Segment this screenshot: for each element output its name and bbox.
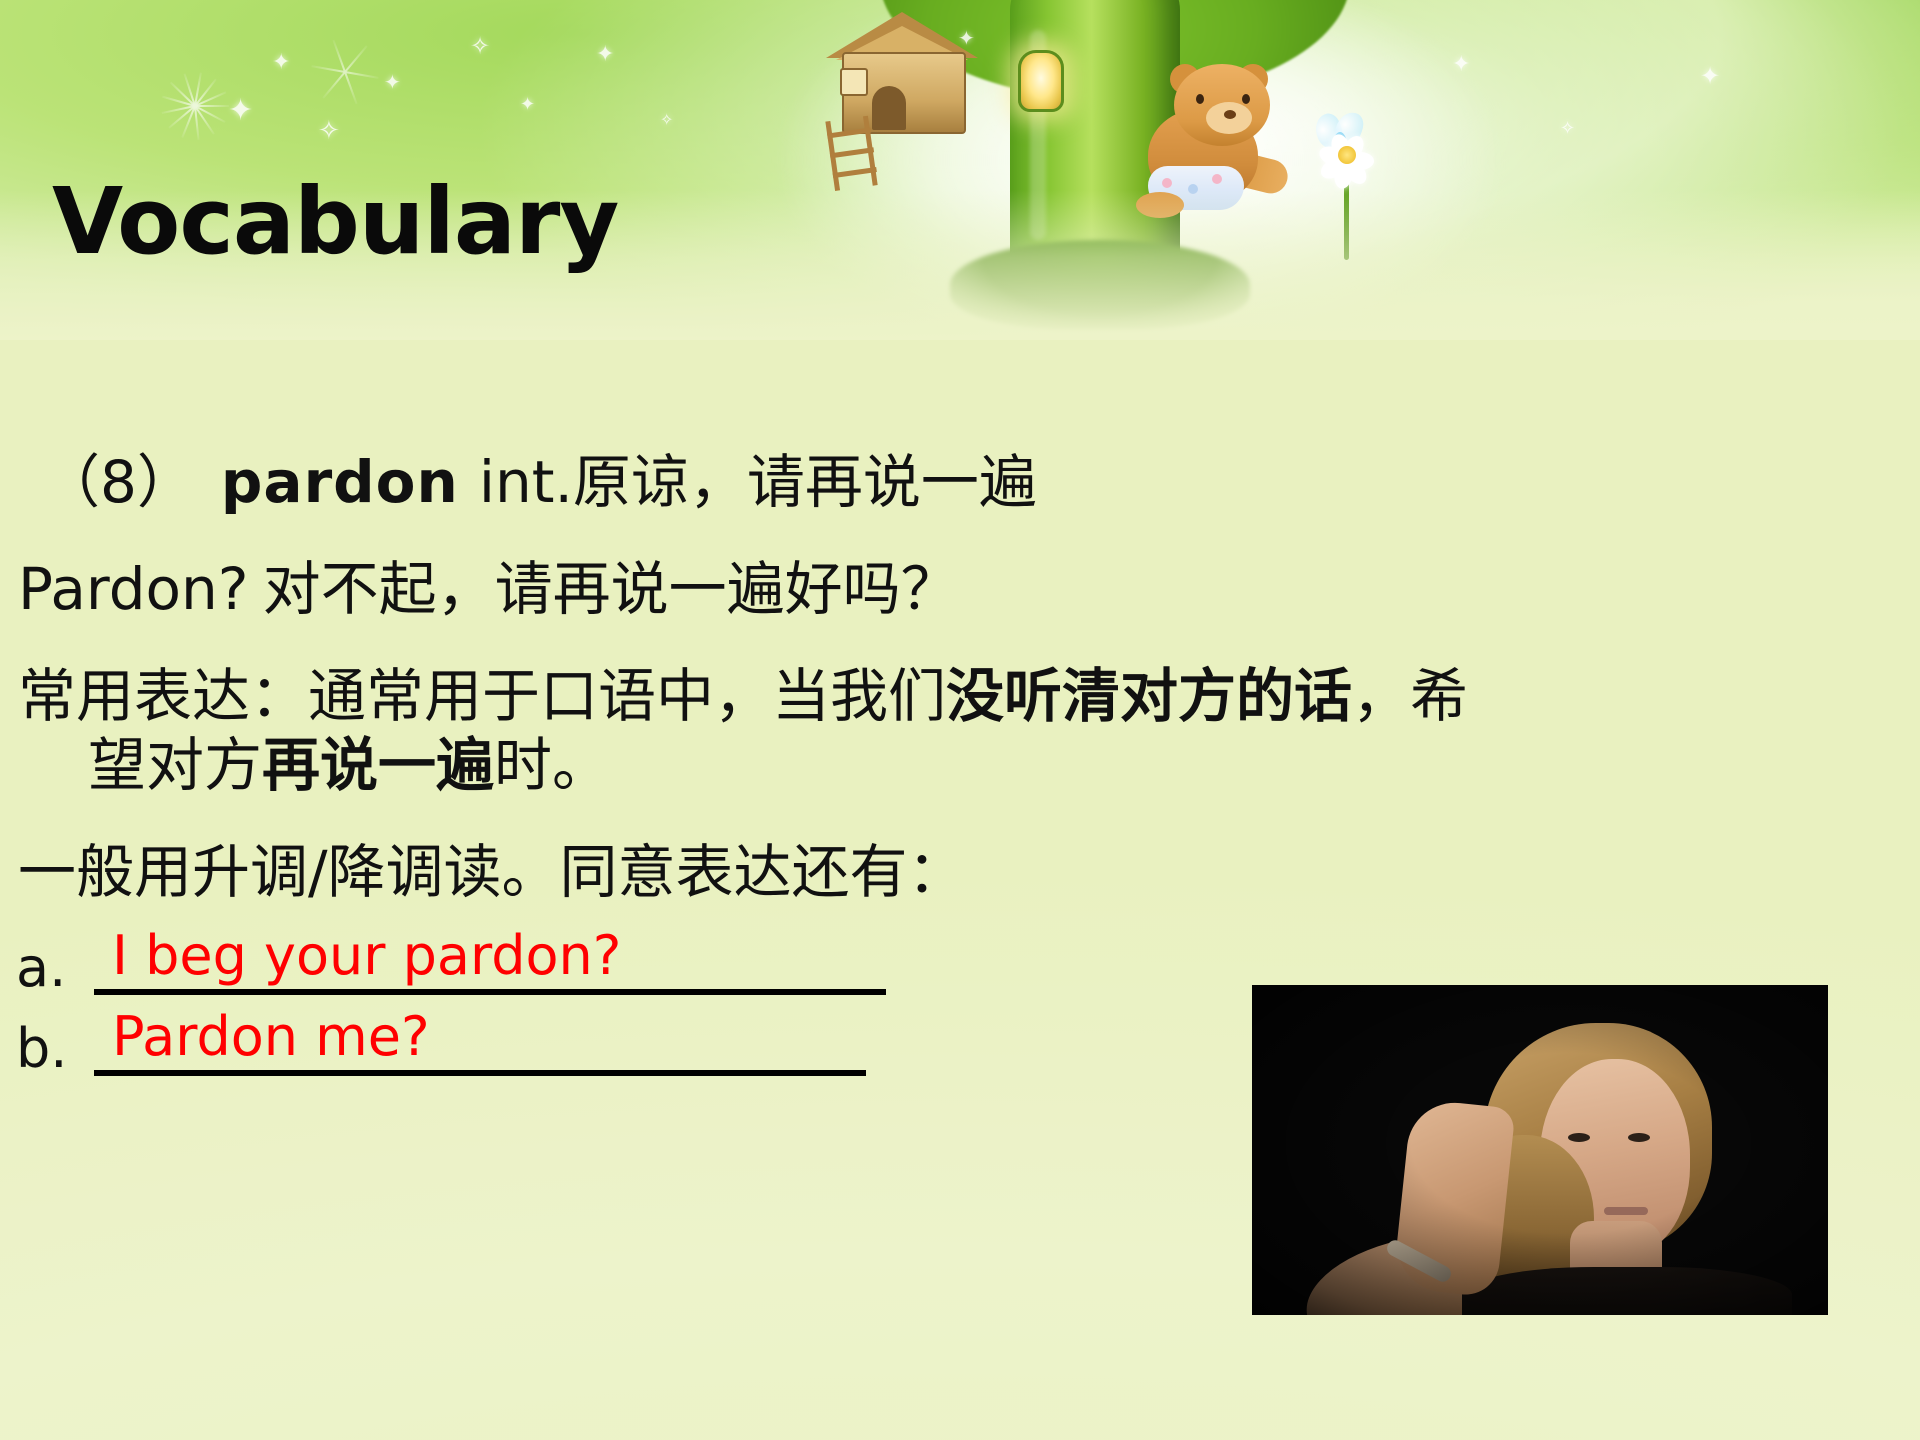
example-english: Pardon? <box>18 555 249 623</box>
photo-vignette <box>1252 985 1828 1315</box>
sparkle-icon: ✦ <box>1452 54 1470 76</box>
answer-text-b: Pardon me? <box>112 1009 852 1066</box>
example-sentence-line: Pardon?对不起，请再说一遍好吗？ <box>18 559 1920 620</box>
vocab-index: （8） <box>42 448 195 516</box>
example-chinese: 对不起，请再说一遍好吗？ <box>263 555 959 623</box>
usage-note-suffix: ，希 <box>1352 662 1468 730</box>
usage-note2-suffix: 时。 <box>494 731 610 799</box>
vocab-meaning: 原谅，请再说一遍 <box>573 448 1037 516</box>
answer-blank-b[interactable]: Pardon me? <box>94 1009 866 1076</box>
sparkle-icon: ✧ <box>660 112 673 128</box>
usage-note-line-1: 常用表达：通常用于口语中，当我们没听清对方的话，希 <box>18 666 1920 727</box>
sparkle-icon: ✧ <box>318 118 340 144</box>
treehouse-ladder <box>823 115 884 192</box>
slide-root: ✦ ✦ ✧ ✦ ✧ ✦ ✦ ✧ ✦ ✦ ✧ ✦ Vocabulary （8）pa… <box>0 0 1920 1440</box>
flower-core <box>1338 146 1356 164</box>
answer-label-b: b. <box>16 1022 94 1076</box>
vocab-entry-line: （8）pardonint.原谅，请再说一遍 <box>42 452 1920 513</box>
treehouse-door <box>872 86 906 130</box>
page-title: Vocabulary <box>52 176 618 268</box>
bear-nose <box>1224 110 1236 119</box>
answer-blank-a[interactable]: I beg your pardon? <box>94 928 886 995</box>
usage-note-line-2: 望对方再说一遍时。 <box>88 735 1920 796</box>
vocab-part-of-speech: int. <box>479 448 573 516</box>
sparkle-icon: ✧ <box>470 34 490 58</box>
vocab-word: pardon <box>221 448 459 516</box>
treehouse-icon <box>820 0 1010 150</box>
sparkle-icon: ✧ <box>1560 120 1575 138</box>
sparkle-icon: ✦ <box>520 96 535 114</box>
answer-text-a: I beg your pardon? <box>112 928 872 985</box>
bear-eye-left <box>1196 94 1204 104</box>
woman-cupping-ear-photo <box>1252 985 1828 1315</box>
sparkle-icon: ✦ <box>1700 64 1720 88</box>
sparkle-icon: ✦ <box>958 28 975 48</box>
dandelion-icon <box>300 26 370 96</box>
bear-eye-right <box>1242 94 1250 104</box>
usage-note2-prefix: 望对方 <box>88 731 262 799</box>
treehouse-window <box>840 68 868 96</box>
sparkle-icon: ✦ <box>384 72 401 92</box>
usage-note-bold: 没听清对方的话 <box>946 662 1352 730</box>
lantern-icon <box>1018 50 1064 112</box>
dandelion-icon <box>150 60 240 150</box>
sparkle-icon: ✦ <box>228 96 253 126</box>
sparkle-icon: ✦ <box>272 52 290 74</box>
usage-note2-bold: 再说一遍 <box>262 731 494 799</box>
intonation-note-line: 一般用升调/降调读。同意表达还有： <box>18 842 1920 903</box>
sparkle-icon: ✦ <box>596 44 614 66</box>
answer-label-a: a. <box>16 941 94 995</box>
usage-note-prefix: 常用表达：通常用于口语中，当我们 <box>18 662 946 730</box>
